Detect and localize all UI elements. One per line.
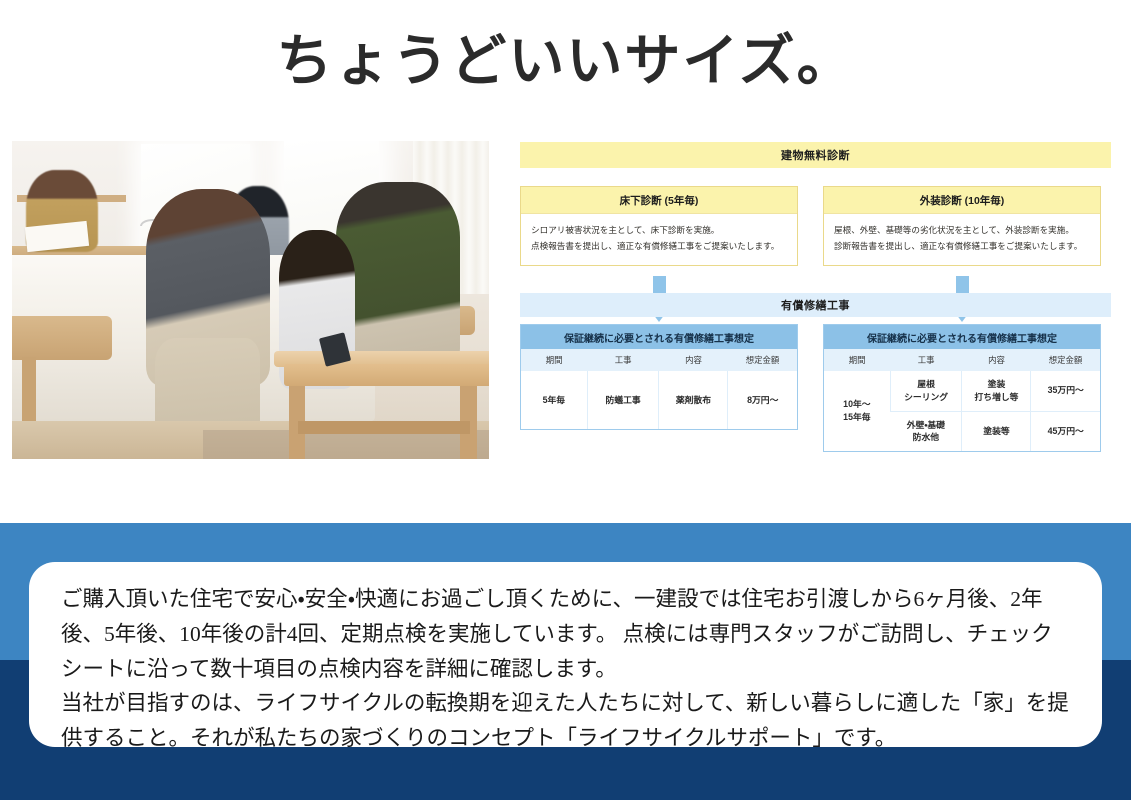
cell-content: 塗装等 xyxy=(962,411,1031,451)
col-period: 期間 xyxy=(521,349,587,371)
photo-table-lower-shelf xyxy=(298,421,470,434)
diagnosis-card-exterior: 外装診断 (10年毎) 屋根、外壁、基礎等の劣化状況を主として、外装診断を実施。… xyxy=(823,186,1101,266)
table-header-row: 期間 工事 内容 想定金額 xyxy=(521,349,797,371)
col-content: 内容 xyxy=(962,349,1031,371)
col-content: 内容 xyxy=(659,349,728,371)
cell-work: 防蟻工事 xyxy=(587,371,659,429)
repair-table-right-title: 保証継続に必要とされる有償修繕工事想定 xyxy=(824,325,1100,349)
maintenance-diagram: 建物無料診断 床下診断 (5年毎) シロアリ被害状況を主として、床下診断を実施。… xyxy=(520,142,1111,467)
col-work: 工事 xyxy=(587,349,659,371)
cell-amount: 45万円〜 xyxy=(1031,411,1100,451)
diagram-mid-band: 有償修繕工事 xyxy=(520,293,1111,317)
col-work: 工事 xyxy=(890,349,962,371)
cell-content: 塗装 打ち増し等 xyxy=(962,371,1031,411)
family-photo xyxy=(12,141,489,459)
photo-table-top xyxy=(284,364,489,386)
col-period: 期間 xyxy=(824,349,890,371)
cell-work: 屋根 シーリング xyxy=(890,371,962,411)
diagram-top-band: 建物無料診断 xyxy=(520,142,1111,168)
col-amount: 想定金額 xyxy=(1031,349,1100,371)
note-body-text: ご購入頂いた住宅で安心・安全・快適にお過ごし頂くために、一建設では住宅お引渡しか… xyxy=(61,582,1072,756)
repair-table-left: 保証継続に必要とされる有償修繕工事想定 期間 工事 内容 想定金額 5年毎 防蟻… xyxy=(520,324,798,430)
cell-period-span: 10年〜 15年毎 xyxy=(824,371,890,451)
photo-rug xyxy=(203,430,489,459)
page-title: ちょうどいいサイズ。 xyxy=(0,26,1131,96)
note-card: ご購入頂いた住宅で安心・安全・快適にお過ごし頂くために、一建設では住宅お引渡しか… xyxy=(29,562,1102,747)
table-row: 5年毎 防蟻工事 薬剤散布 8万円〜 xyxy=(521,371,797,429)
diagnosis-card-floor-body: シロアリ被害状況を主として、床下診断を実施。 点検報告書を提出し、適正な有償修繕… xyxy=(521,214,797,265)
col-amount: 想定金額 xyxy=(728,349,797,371)
family-photo-image xyxy=(12,141,489,459)
table-row: 10年〜 15年毎 屋根 シーリング 塗装 打ち増し等 35万円〜 xyxy=(824,371,1100,411)
photo-sofa-armrest-left xyxy=(12,316,112,361)
cell-period: 5年毎 xyxy=(521,371,587,429)
table-header-row: 期間 工事 内容 想定金額 xyxy=(824,349,1100,371)
repair-table-right-grid: 期間 工事 内容 想定金額 10年〜 15年毎 屋根 シーリング 塗装 打ち増し… xyxy=(824,349,1100,451)
diagnosis-card-floor-title: 床下診断 (5年毎) xyxy=(521,187,797,214)
cell-amount: 8万円〜 xyxy=(728,371,797,429)
repair-table-right: 保証継続に必要とされる有償修繕工事想定 期間 工事 内容 想定金額 10年〜 1… xyxy=(823,324,1101,452)
repair-table-left-grid: 期間 工事 内容 想定金額 5年毎 防蟻工事 薬剤散布 8万円〜 xyxy=(521,349,797,429)
diagnosis-card-exterior-title: 外装診断 (10年毎) xyxy=(824,187,1100,214)
diagnosis-card-floor: 床下診断 (5年毎) シロアリ被害状況を主として、床下診断を実施。 点検報告書を… xyxy=(520,186,798,266)
cell-content: 薬剤散布 xyxy=(659,371,728,429)
diagnosis-card-exterior-body: 屋根、外壁、基礎等の劣化状況を主として、外装診断を実施。 診断報告書を提出し、適… xyxy=(824,214,1100,265)
cell-work: 外壁・基礎 防水他 xyxy=(890,411,962,451)
repair-table-left-title: 保証継続に必要とされる有償修繕工事想定 xyxy=(521,325,797,349)
cell-amount: 35万円〜 xyxy=(1031,371,1100,411)
